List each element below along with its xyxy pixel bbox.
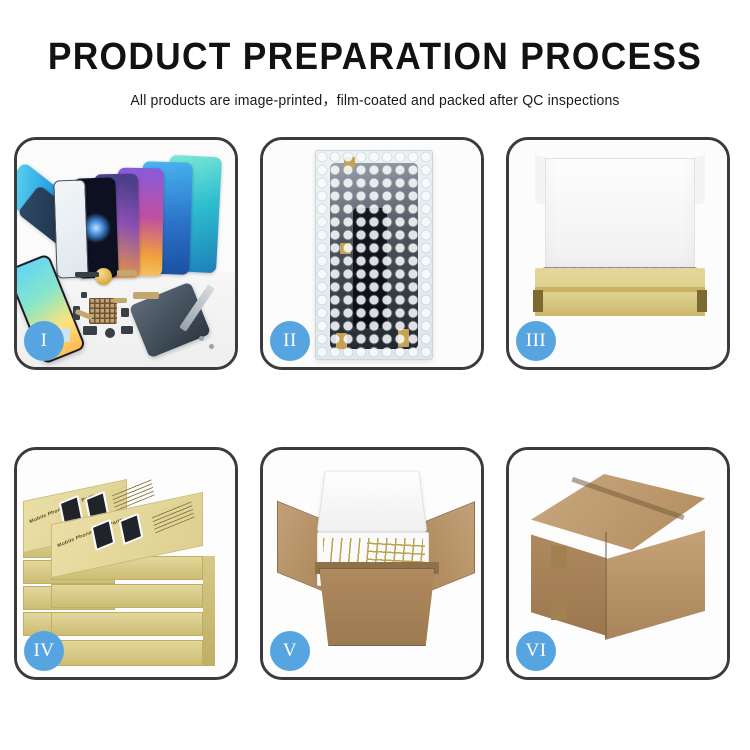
component-part-icon — [81, 292, 87, 298]
step-badge-1: I — [24, 321, 64, 361]
step-badge-5: V — [270, 631, 310, 671]
process-step-6: VI — [506, 447, 730, 680]
tempered-glass-icon — [53, 179, 88, 278]
component-part-icon — [121, 326, 133, 334]
component-part-icon — [75, 272, 99, 277]
step-badge-4: IV — [24, 631, 64, 671]
carton-body — [319, 568, 435, 646]
kraft-box-front — [535, 292, 705, 316]
carton-tape-icon — [551, 600, 567, 620]
foam-lid-icon — [317, 471, 428, 533]
process-step-3: III — [506, 137, 730, 370]
step-badge-3: III — [516, 321, 556, 361]
header: PRODUCT PREPARATION PROCESS All products… — [0, 38, 750, 110]
screw-icon — [199, 336, 204, 341]
step-badge-2: II — [270, 321, 310, 361]
component-part-icon — [105, 328, 115, 338]
stacked-box — [51, 612, 203, 636]
bubble-wrap-bag-icon — [315, 150, 433, 360]
component-part-icon — [83, 326, 97, 335]
stacked-box — [51, 584, 203, 608]
screw-icon — [209, 344, 214, 349]
box-corner-icon — [697, 290, 707, 312]
process-step-2: II — [260, 137, 484, 370]
process-step-5: V — [260, 447, 484, 680]
white-foam-lid-icon — [545, 158, 695, 276]
page-subtitle: All products are image-printed，film-coat… — [11, 89, 739, 110]
page-title: PRODUCT PREPARATION PROCESS — [26, 38, 724, 78]
bubble-texture — [316, 151, 432, 359]
process-step-4: Mobile Phone Spare Parts Mobile Phone Sp… — [14, 447, 238, 680]
flex-cable-icon — [113, 298, 127, 303]
flex-cable-icon — [117, 270, 137, 276]
process-step-grid: I II — [14, 137, 738, 680]
stacked-box-side — [203, 556, 215, 666]
product-preparation-infographic: PRODUCT PREPARATION PROCESS All products… — [0, 0, 750, 750]
flex-cable-icon — [133, 292, 159, 299]
process-step-1: I — [14, 137, 238, 370]
carton-tape-icon — [551, 546, 567, 568]
carton-vertical-edge — [605, 532, 607, 638]
box-corner-icon — [533, 290, 543, 312]
component-part-icon — [121, 308, 129, 317]
stacked-box — [51, 640, 203, 666]
step-badge-6: VI — [516, 631, 556, 671]
